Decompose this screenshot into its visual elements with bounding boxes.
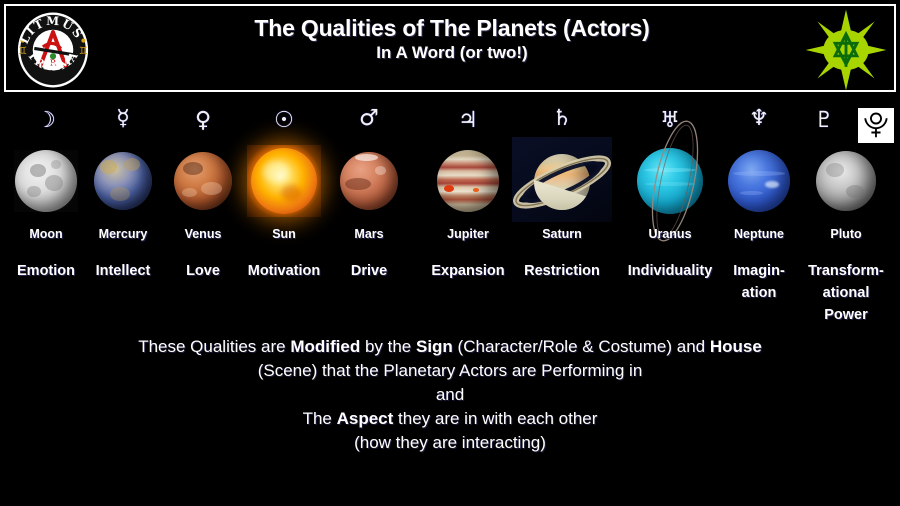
planet-image-sun: [251, 148, 317, 214]
green-sunburst-logo: [804, 8, 888, 92]
quality-mars: Drive: [321, 260, 417, 282]
venus-symbol: ♀: [163, 110, 243, 132]
planet-image-mercury: [94, 152, 152, 210]
planet-image-uranus: [637, 148, 703, 214]
litmus-freeman-logo: R ♊ ♊ LITMUS FREEMAN: [14, 11, 92, 89]
planet-name-pluto: Pluto: [798, 227, 894, 241]
title-block: The Qualities of The Planets (Actors) In…: [116, 14, 788, 64]
planet-name-mars: Mars: [330, 227, 408, 241]
planet-image-venus: [174, 152, 232, 210]
sun-symbol: ☉: [237, 110, 331, 132]
planet-image-neptune: [728, 150, 790, 212]
page-subtitle: In A Word (or two!): [116, 42, 788, 64]
mars-symbol: ♂: [330, 108, 408, 130]
planet-name-saturn: Saturn: [514, 227, 610, 241]
green-sunburst-emblem-icon: [804, 8, 888, 92]
footer-explanation: These Qualities are Modified by the Sign…: [0, 335, 900, 455]
planet-name-mercury: Mercury: [80, 227, 166, 241]
pluto-alt-symbol: ⯓: [858, 108, 894, 143]
quality-saturn: Restriction: [505, 260, 619, 282]
footer-line-2: (Scene) that the Planetary Actors are Pe…: [0, 359, 900, 383]
mercury-symbol: ☿: [80, 108, 166, 130]
header-banner: R ♊ ♊ LITMUS FREEMAN: [4, 4, 896, 92]
slide-root: R ♊ ♊ LITMUS FREEMAN: [0, 0, 900, 506]
page-title: The Qualities of The Planets (Actors): [116, 14, 788, 42]
planet-image-moon: [15, 150, 77, 212]
saturn-rings: [506, 139, 618, 225]
svg-text:♊: ♊: [18, 46, 27, 57]
litmus-freeman-badge-icon: R ♊ ♊ LITMUS FREEMAN: [14, 11, 92, 89]
saturn-symbol: ♄: [514, 108, 610, 130]
footer-line-3: and: [0, 383, 900, 407]
planet-image-jupiter: [437, 150, 499, 212]
uranus-symbol: ♅: [620, 110, 720, 132]
planet-name-uranus: Uranus: [620, 227, 720, 241]
quality-pluto: Transform-ationalPower: [789, 260, 900, 326]
planet-name-neptune: Neptune: [720, 227, 798, 241]
svg-text:♊: ♊: [79, 46, 88, 57]
planet-name-venus: Venus: [163, 227, 243, 241]
jupiter-symbol: ♃: [422, 110, 514, 132]
planet-name-sun: Sun: [237, 227, 331, 241]
planet-name-jupiter: Jupiter: [422, 227, 514, 241]
moon-symbol: ☽: [3, 110, 89, 132]
footer-line-1: These Qualities are Modified by the Sign…: [0, 335, 900, 359]
planet-image-mars: [340, 152, 398, 210]
planet-image-pluto: [816, 151, 876, 211]
footer-line-5: (how they are interacting): [0, 431, 900, 455]
planet-name-moon: Moon: [3, 227, 89, 241]
footer-line-4: The Aspect they are in with each other: [0, 407, 900, 431]
